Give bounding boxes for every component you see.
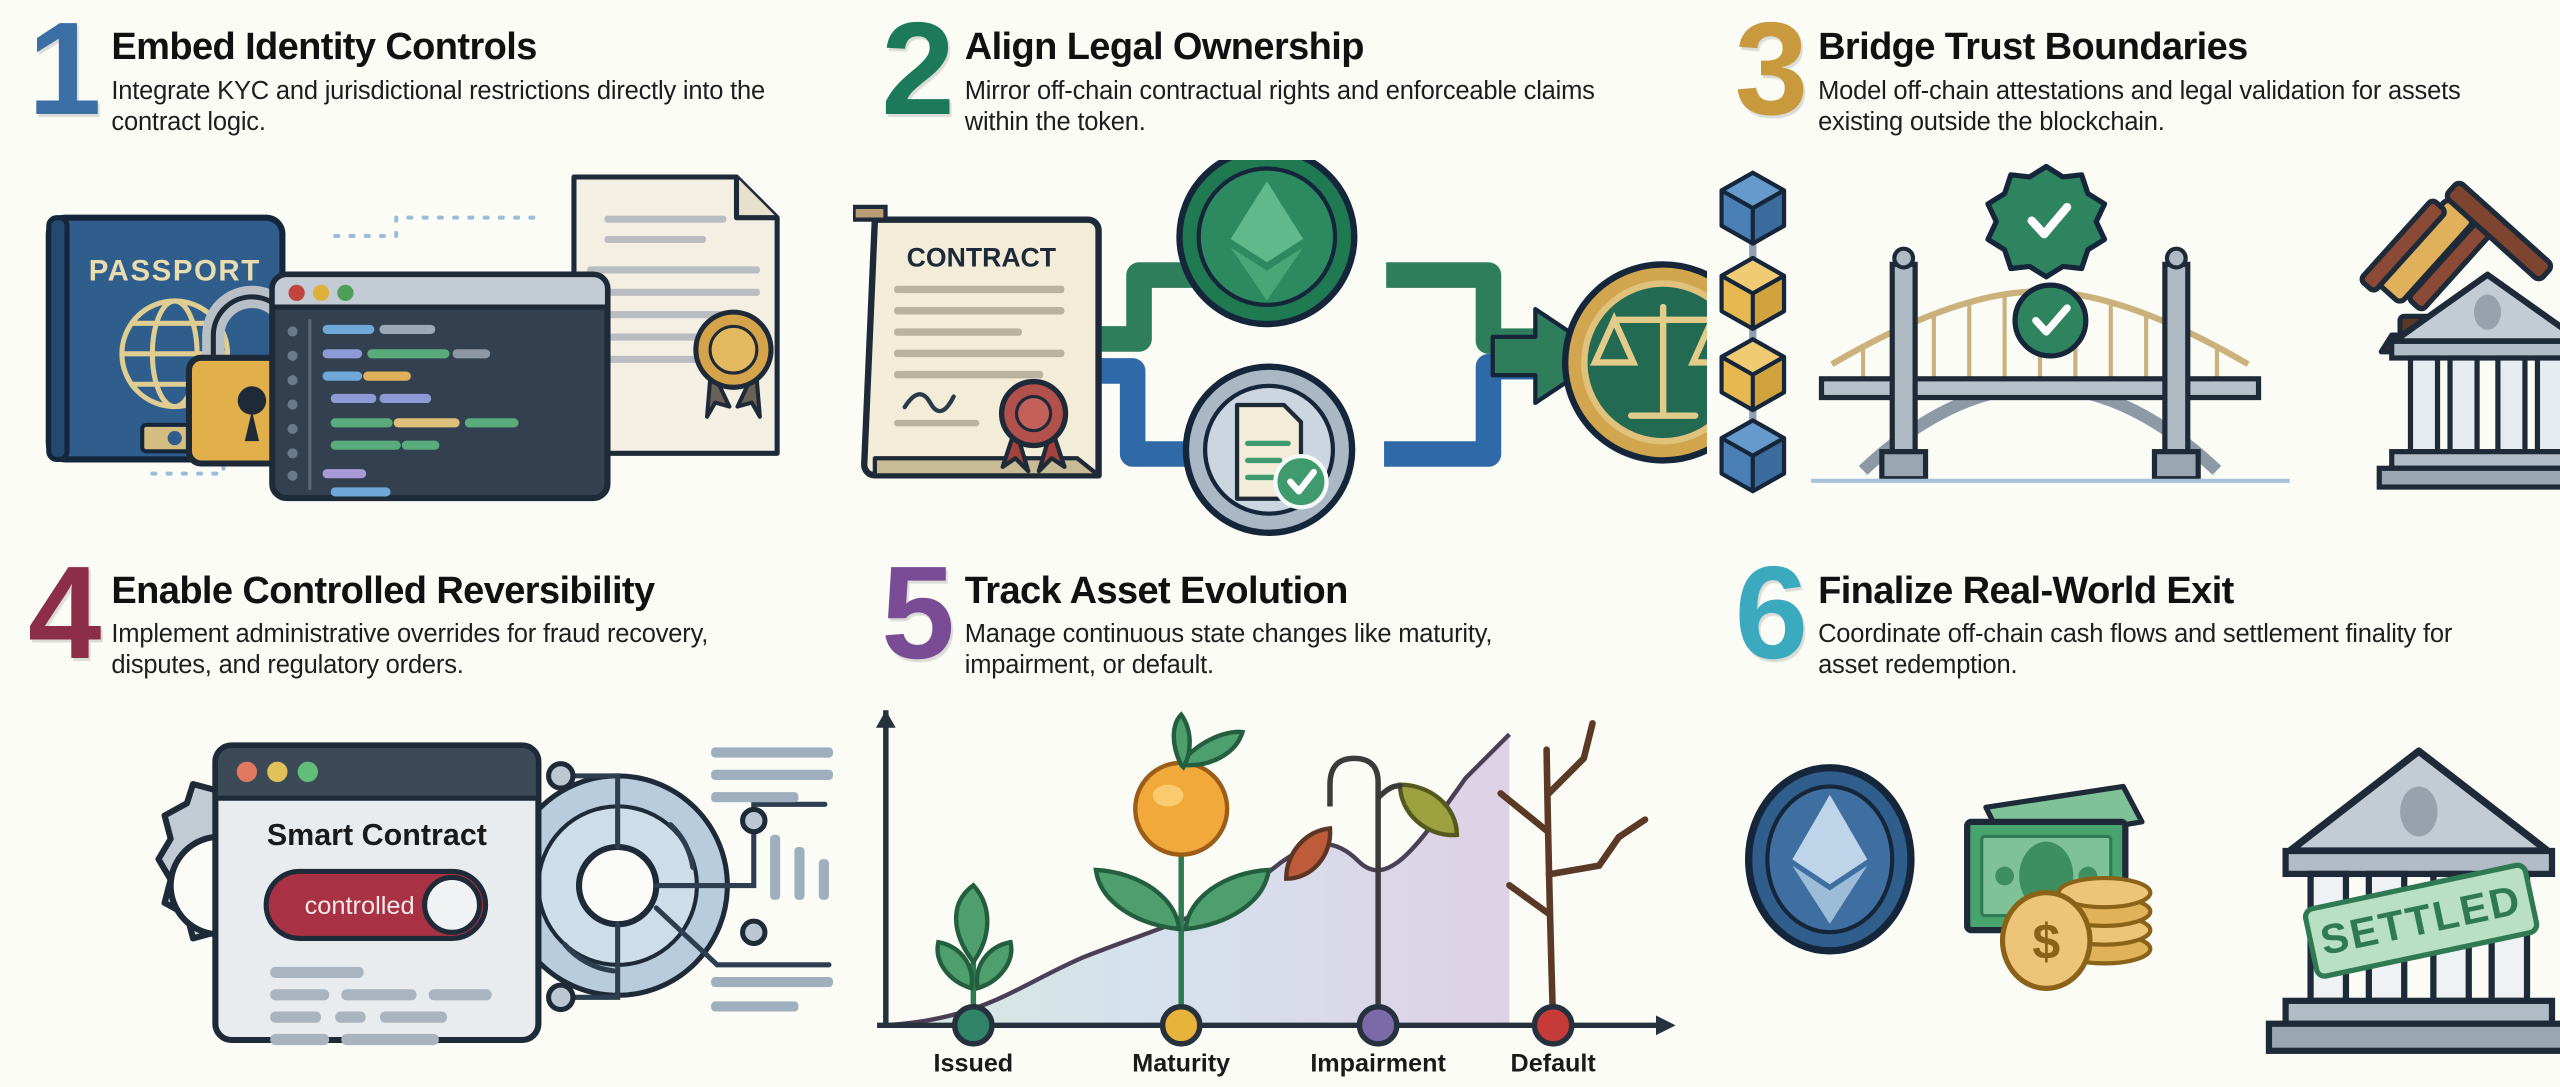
panel-3-number: 3 [1735, 12, 1804, 126]
svg-text:Smart Contract: Smart Contract [267, 817, 487, 851]
code-editor-window [272, 275, 607, 498]
blockchain-cubes [1721, 173, 1783, 491]
ethereum-coin [1748, 767, 1910, 950]
panel-6: 6 Finalize Real-World Exit Coordinate of… [1707, 544, 2560, 1087]
courthouse-icon [2379, 275, 2560, 487]
panel-2-description: Mirror off-chain contractual rights and … [965, 76, 1625, 138]
verified-badge [1988, 167, 2105, 277]
panel-4-header: 4 Enable Controlled Reversibility Implem… [28, 562, 825, 682]
identity-controls-illustration: PASSPORT [0, 160, 853, 544]
panel-1-header: 1 Embed Identity Controls Integrate KYC … [28, 18, 825, 138]
bare-tree-icon [1501, 723, 1645, 1025]
check-circle-icon [2015, 285, 2086, 356]
axis-label-maturity: Maturity [1133, 1049, 1231, 1077]
panel-1: 1 Embed Identity Controls Integrate KYC … [0, 0, 853, 544]
verified-document-coin [1186, 367, 1352, 533]
panel-1-title: Embed Identity Controls [111, 28, 771, 67]
panel-3: 3 Bridge Trust Boundaries Model off-chai… [1707, 0, 2560, 544]
panel-5-title: Track Asset Evolution [965, 572, 1625, 611]
infographic-board: 1 Embed Identity Controls Integrate KYC … [0, 0, 2560, 1087]
axis-label-issued: Issued [934, 1049, 1014, 1077]
asset-evolution-chart: Issued Maturity Impairment Default [853, 694, 1706, 1087]
panel-4-number: 4 [28, 556, 97, 670]
panel-1-number: 1 [28, 12, 97, 126]
panel-6-header: 6 Finalize Real-World Exit Coordinate of… [1735, 562, 2532, 682]
circuit-node-graphic [508, 747, 833, 1011]
panel-3-description: Model off-chain attestations and legal v… [1818, 76, 2478, 138]
panel-5: 5 Track Asset Evolution Manage continuou… [853, 544, 1706, 1087]
axis-label-impairment: Impairment [1311, 1049, 1447, 1077]
panel-5-header: 5 Track Asset Evolution Manage continuou… [881, 562, 1678, 682]
real-world-exit-illustration: $ SETTLED [1707, 704, 2560, 1087]
toggle-switch: controlled [266, 871, 485, 938]
axis-label-default: Default [1511, 1049, 1597, 1077]
panel-2-title: Align Legal Ownership [965, 28, 1625, 67]
panel-2-number: 2 [881, 12, 950, 126]
contract-document: CONTRACT [854, 207, 1099, 475]
svg-text:CONTRACT: CONTRACT [907, 243, 1056, 273]
trust-bridge-illustration [1707, 160, 2560, 544]
panel-3-title: Bridge Trust Boundaries [1818, 28, 2478, 67]
ethereum-coin [1180, 160, 1355, 324]
panel-5-number: 5 [881, 556, 950, 670]
smart-contract-window: Smart Contract controlled [215, 745, 538, 1045]
svg-text:controlled: controlled [305, 892, 415, 920]
panel-5-description: Manage continuous state changes like mat… [965, 619, 1625, 681]
panel-6-title: Finalize Real-World Exit [1818, 572, 2478, 611]
panel-2-header: 2 Align Legal Ownership Mirror off-chain… [881, 18, 1678, 138]
svg-text:$: $ [2032, 914, 2060, 970]
panel-6-number: 6 [1735, 556, 1804, 670]
panel-1-description: Integrate KYC and jurisdictional restric… [111, 76, 771, 138]
panel-3-header: 3 Bridge Trust Boundaries Model off-chai… [1735, 18, 2532, 138]
panel-4-description: Implement administrative overrides for f… [111, 619, 771, 681]
panel-6-description: Coordinate off-chain cash flows and sett… [1818, 619, 2478, 681]
scales-of-justice-medallion [1565, 264, 1706, 460]
panel-4-title: Enable Controlled Reversibility [111, 572, 771, 611]
panel-4: 4 Enable Controlled Reversibility Implem… [0, 544, 853, 1087]
svg-text:PASSPORT: PASSPORT [89, 255, 261, 288]
controlled-reversibility-illustration: Smart Contract controlled [0, 704, 853, 1087]
legal-ownership-illustration: CONTRACT [853, 160, 1706, 544]
panel-2: 2 Align Legal Ownership Mirror off-chain… [853, 0, 1706, 544]
